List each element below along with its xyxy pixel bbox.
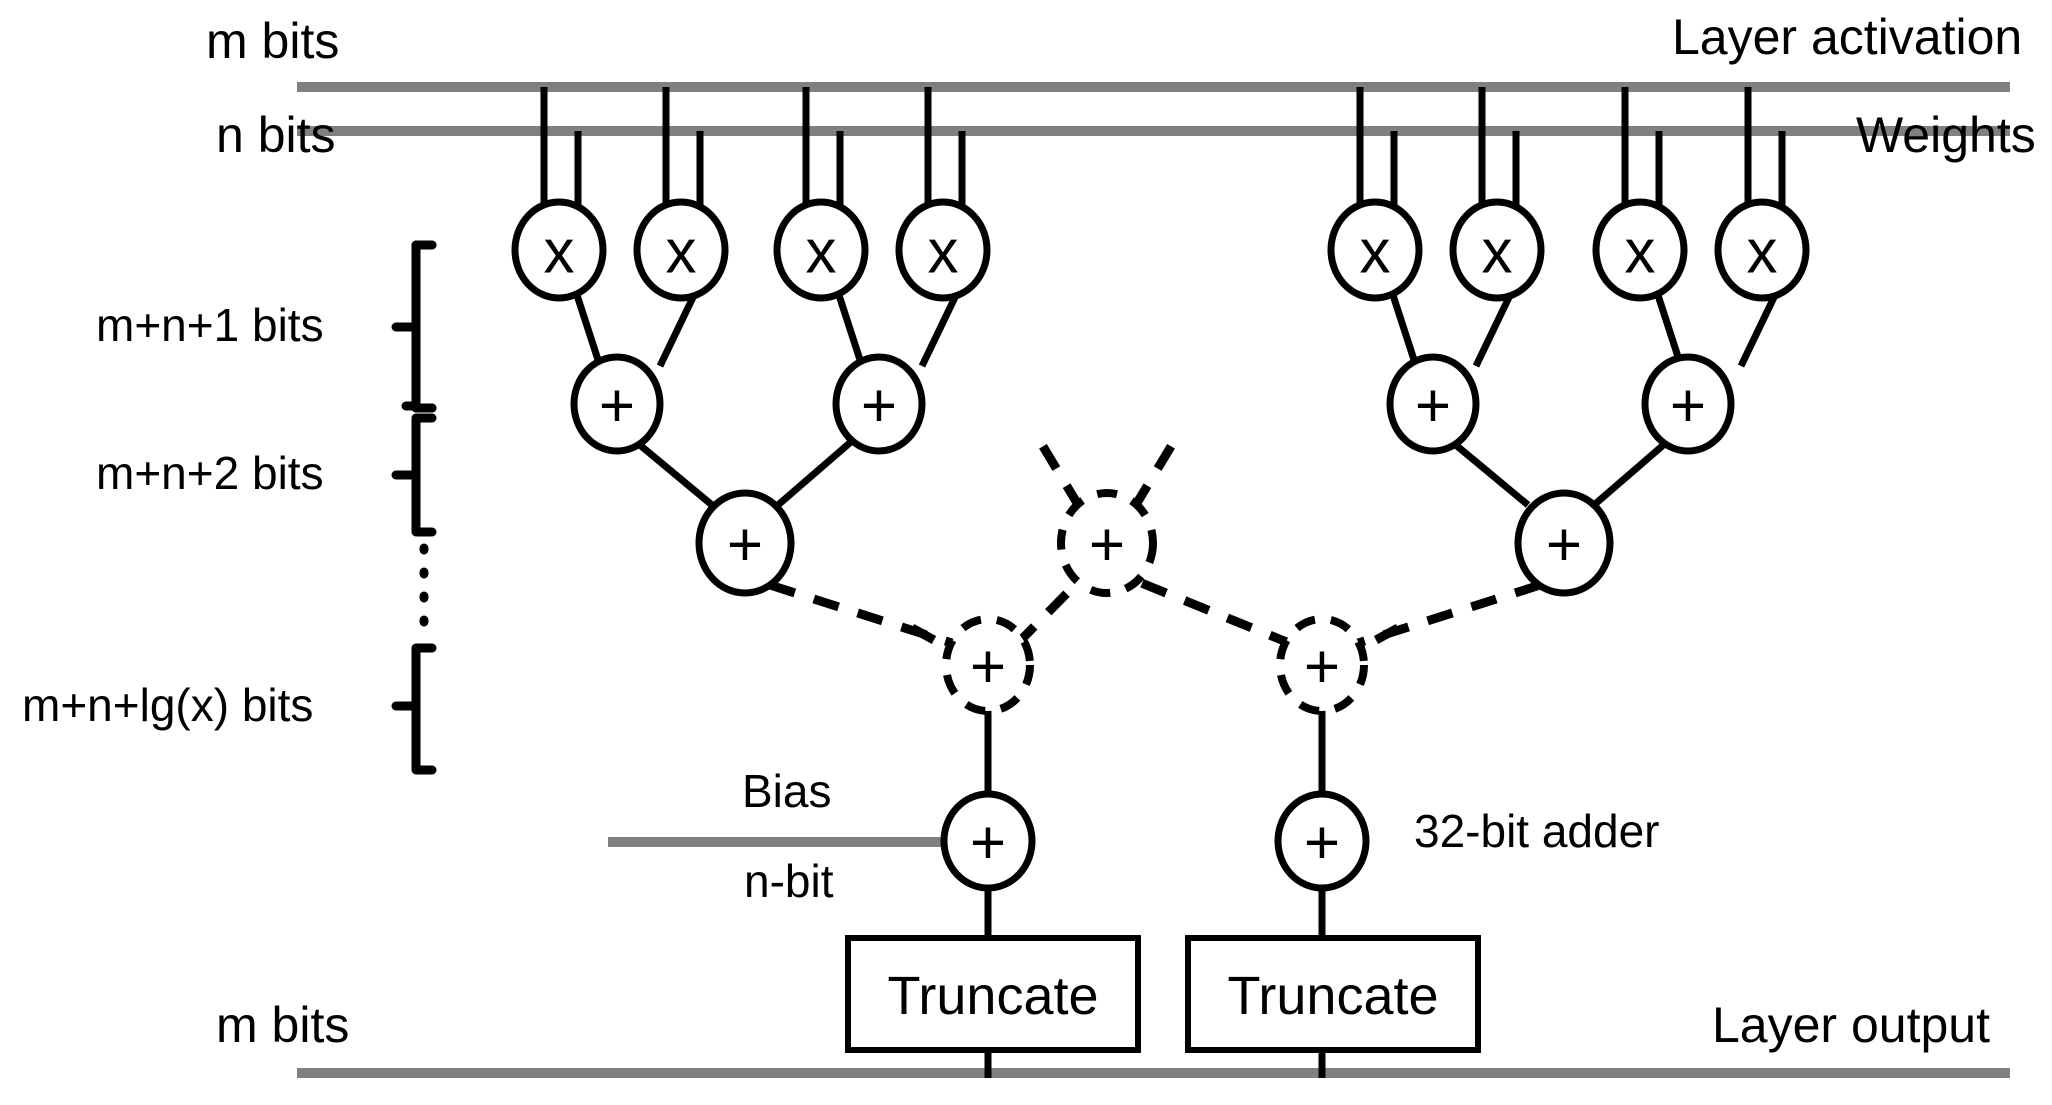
- adder-glyph: +: [1670, 372, 1706, 441]
- elided-adder-wire: [1376, 628, 1398, 640]
- plus-node-icon[interactable]: +: [1518, 493, 1610, 593]
- elided-adder-wire: [1016, 580, 1080, 645]
- truncate-block-icon[interactable]: Truncate: [1188, 938, 1478, 1050]
- adder-glyph: +: [1546, 511, 1582, 580]
- weights-bits-label: n bits: [216, 110, 336, 160]
- adder-to-adder-wire: [635, 441, 712, 505]
- multiplier-glyph: x: [1747, 218, 1778, 287]
- mult-to-adder-wire: [1656, 289, 1681, 366]
- adder-to-adder-wire: [1594, 441, 1668, 505]
- plus-node-icon-final[interactable]: +: [944, 794, 1032, 888]
- datapath-diagram: x x x x x x x x: [0, 0, 2052, 1105]
- adder-glyph: +: [1415, 372, 1451, 441]
- elided-adder-wire: [1134, 438, 1176, 508]
- plus-node-icon-final[interactable]: +: [1278, 794, 1366, 888]
- elided-adder-wire: [1038, 438, 1080, 508]
- multiplier-glyph: x: [544, 218, 575, 287]
- multiply-node-icon[interactable]: x: [1331, 202, 1419, 298]
- adder-glyph: +: [970, 809, 1006, 878]
- multiplier-glyph: x: [1360, 218, 1391, 287]
- multiply-node-icon[interactable]: x: [1596, 202, 1684, 298]
- truncate-block-icon[interactable]: Truncate: [848, 938, 1138, 1050]
- adder-glyph: +: [1304, 809, 1340, 878]
- multiply-node-icon[interactable]: x: [1718, 202, 1806, 298]
- adder-to-adder-wire: [778, 441, 852, 505]
- plus-node-icon[interactable]: +: [836, 357, 922, 451]
- bracket-label-mnlgx: m+n+lg(x) bits: [22, 682, 313, 728]
- adder-to-adder-wire: [1451, 441, 1528, 505]
- adder-glyph: +: [727, 511, 763, 580]
- output-bits-label: m bits: [216, 1000, 349, 1050]
- bias-width-label: n-bit: [744, 858, 833, 904]
- plus-node-icon-elided[interactable]: +: [946, 619, 1030, 711]
- elided-adder-wire: [1134, 580, 1294, 645]
- plus-node-icon[interactable]: +: [1390, 357, 1476, 451]
- multiplier-glyph: x: [1625, 218, 1656, 287]
- bias-label: Bias: [742, 768, 831, 814]
- adder-glyph: +: [1304, 633, 1340, 702]
- multiply-node-icon[interactable]: x: [515, 202, 603, 298]
- adder-glyph: +: [861, 372, 897, 441]
- multiplier-glyph: x: [928, 218, 959, 287]
- multiplier-glyph: x: [666, 218, 697, 287]
- adder-glyph: +: [970, 633, 1006, 702]
- plus-node-icon[interactable]: +: [699, 493, 791, 593]
- plus-node-icon[interactable]: +: [574, 357, 660, 451]
- plus-node-icon-elided[interactable]: +: [1061, 493, 1153, 593]
- elided-adder-wire: [912, 628, 934, 640]
- layer-activation-label: Layer activation: [1672, 12, 2022, 62]
- multiply-node-icon[interactable]: x: [1453, 202, 1541, 298]
- truncate-label: Truncate: [887, 966, 1098, 1026]
- multiply-node-icon[interactable]: x: [637, 202, 725, 298]
- weights-label: Weights: [1856, 110, 2036, 160]
- mult-to-adder-wire: [1391, 289, 1416, 366]
- truncate-label: Truncate: [1227, 966, 1438, 1026]
- mult-to-adder-wire: [837, 289, 862, 366]
- multiply-node-icon[interactable]: x: [777, 202, 865, 298]
- adder-glyph: +: [1089, 511, 1125, 580]
- layer-output-label: Layer output: [1712, 1000, 1990, 1050]
- diagram-canvas: x x x x x x x x: [0, 0, 2052, 1105]
- bracket-label-mn2: m+n+2 bits: [96, 450, 324, 496]
- bracket-label-mn1: m+n+1 bits: [96, 302, 324, 348]
- plus-node-icon-elided[interactable]: +: [1280, 619, 1364, 711]
- multiply-node-icon[interactable]: x: [899, 202, 987, 298]
- multiplier-glyph: x: [806, 218, 837, 287]
- mult-to-adder-wire: [575, 289, 600, 366]
- adder-annotation-label: 32-bit adder: [1414, 808, 1660, 854]
- adder-glyph: +: [599, 372, 635, 441]
- plus-node-icon[interactable]: +: [1645, 357, 1731, 451]
- activation-bits-label: m bits: [206, 16, 339, 66]
- multiplier-glyph: x: [1482, 218, 1513, 287]
